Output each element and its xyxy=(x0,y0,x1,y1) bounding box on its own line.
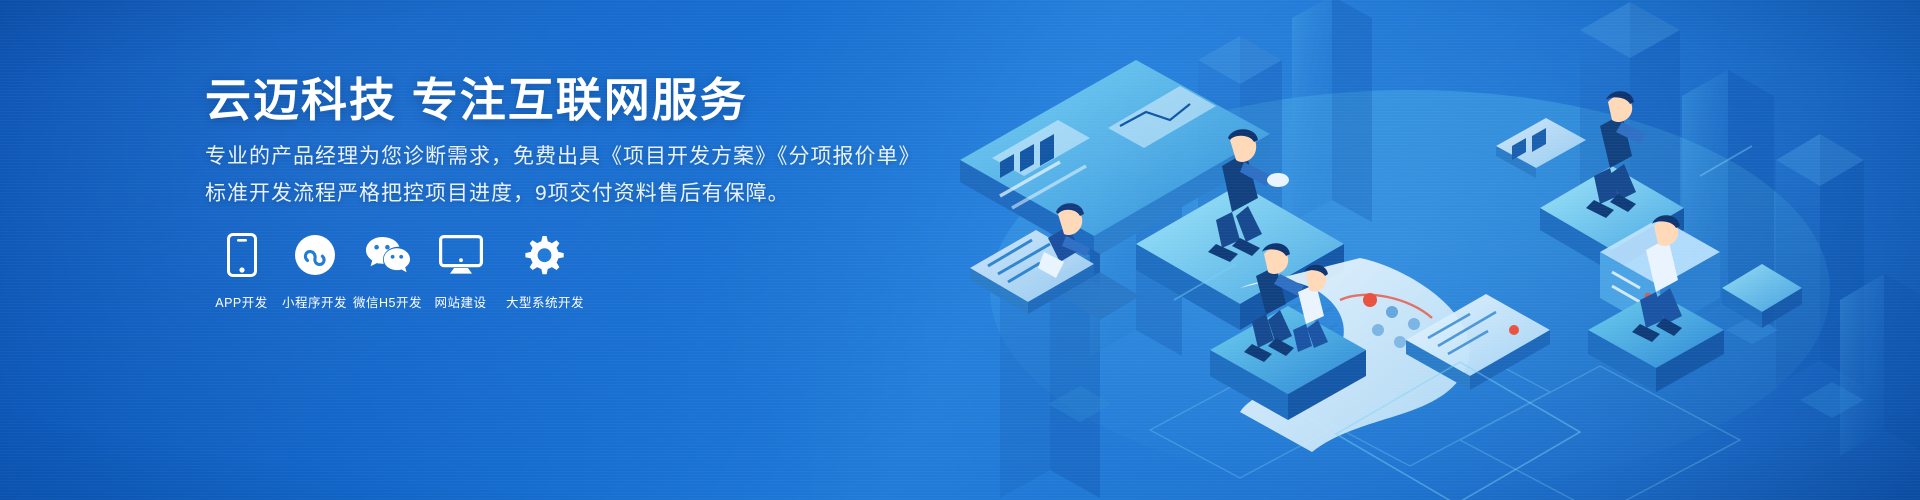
service-item-app[interactable]: APP开发 xyxy=(205,232,278,311)
service-label: 小程序开发 xyxy=(282,292,347,311)
mobile-phone-icon xyxy=(219,232,265,278)
monitor-icon xyxy=(438,232,484,278)
page-title: 云迈科技 专注互联网服务 xyxy=(205,74,748,127)
service-label: 网站建设 xyxy=(434,292,486,311)
hero-illustration xyxy=(940,0,1920,500)
mini-program-icon xyxy=(292,232,338,278)
gear-icon xyxy=(522,232,568,278)
service-label: APP开发 xyxy=(215,292,268,311)
service-list: APP开发 小程序开发 xyxy=(205,232,593,311)
hero-copy: 云迈科技 专注互联网服务 专业的产品经理为您诊断需求，免费出具《项目开发方案》《… xyxy=(205,0,925,500)
service-item-system[interactable]: 大型系统开发 xyxy=(497,232,593,311)
service-label: 大型系统开发 xyxy=(506,292,584,311)
service-item-wechat[interactable]: 微信H5开发 xyxy=(351,232,424,311)
hero-banner: 云迈科技 专注互联网服务 专业的产品经理为您诊断需求，免费出具《项目开发方案》《… xyxy=(0,0,1920,500)
subtitle-line-1: 专业的产品经理为您诊断需求，免费出具《项目开发方案》《分项报价单》 xyxy=(205,146,921,167)
subtitle-line-2: 标准开发流程严格把控项目进度，9项交付资料售后有保障。 xyxy=(205,183,790,204)
service-item-website[interactable]: 网站建设 xyxy=(424,232,497,311)
wechat-icon xyxy=(365,232,411,278)
service-label: 微信H5开发 xyxy=(353,292,422,311)
service-item-miniprogram[interactable]: 小程序开发 xyxy=(278,232,351,311)
